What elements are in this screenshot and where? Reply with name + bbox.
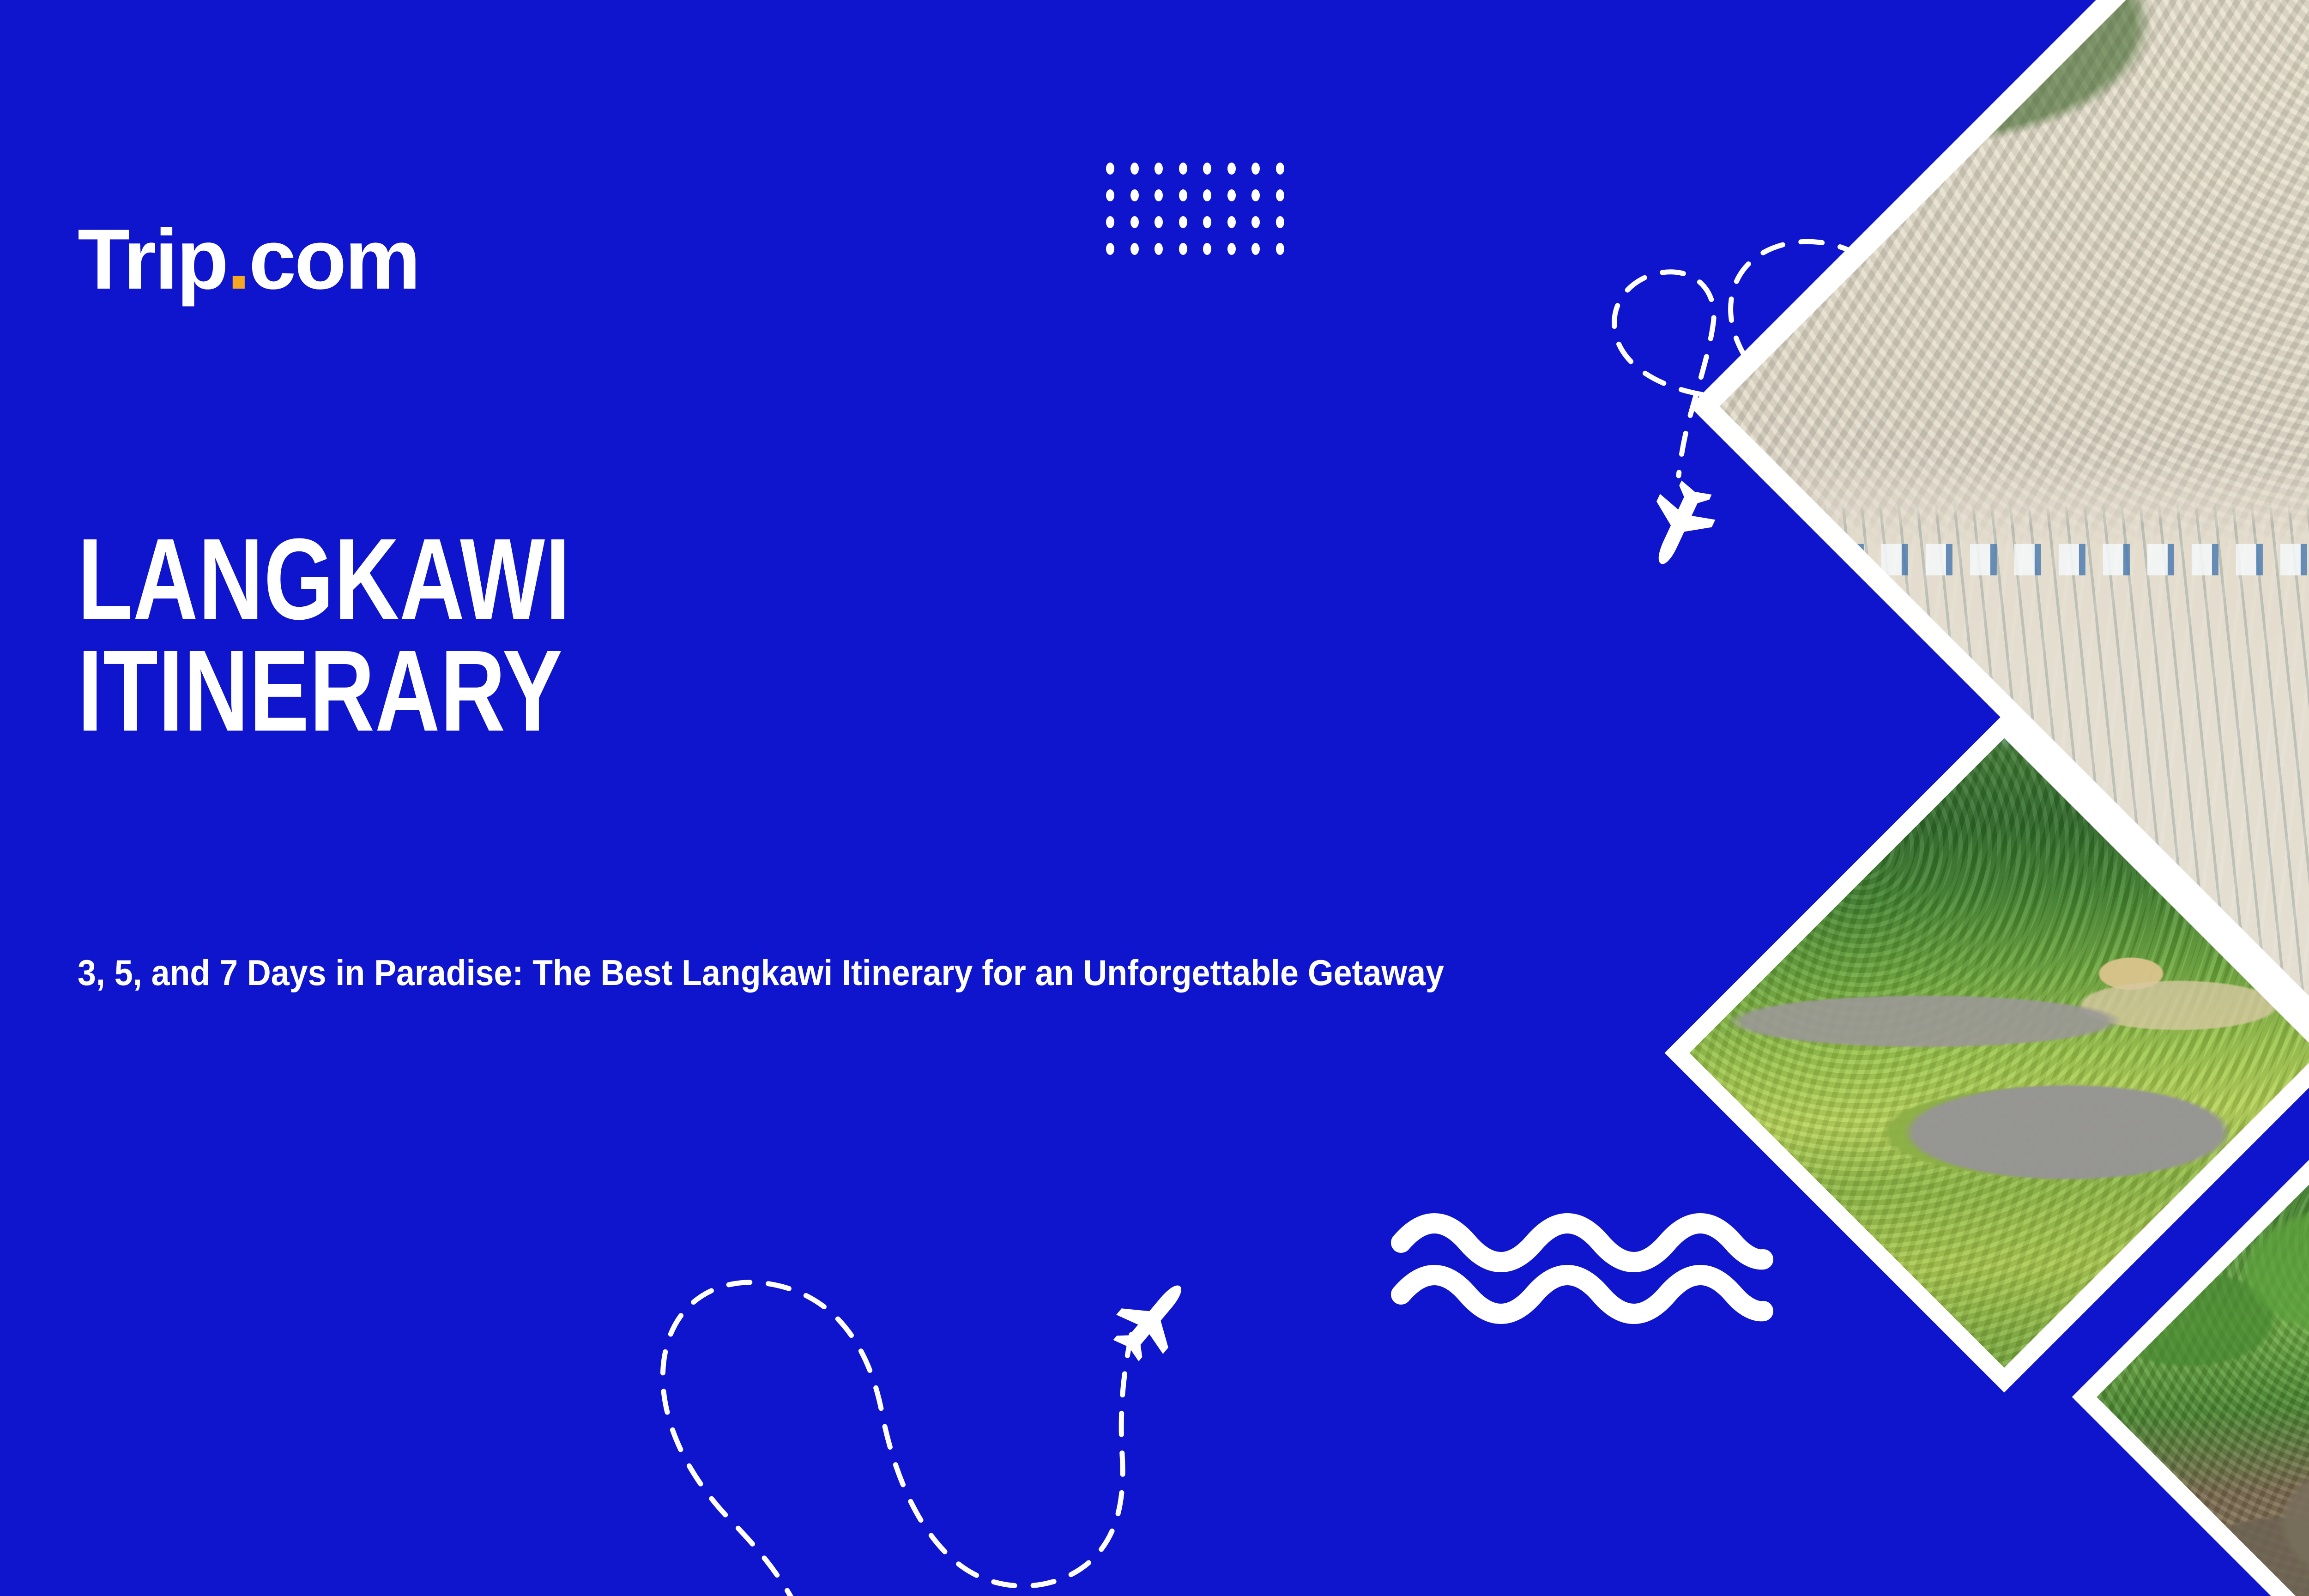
logo-text-trip: Trip (78, 212, 227, 307)
page-subtitle: 3, 5, and 7 Days in Paradise: The Best L… (78, 948, 1522, 998)
tripcom-logo[interactable]: Trip.com (78, 217, 419, 302)
langkawi-itinerary-banner: Trip.com LANGKAWI ITINERARY 3, 5, and 7 … (0, 0, 2309, 1596)
logo-text-com: com (249, 212, 419, 307)
logo-dot: . (227, 212, 248, 307)
page-title: LANGKAWI ITINERARY (78, 523, 1122, 747)
